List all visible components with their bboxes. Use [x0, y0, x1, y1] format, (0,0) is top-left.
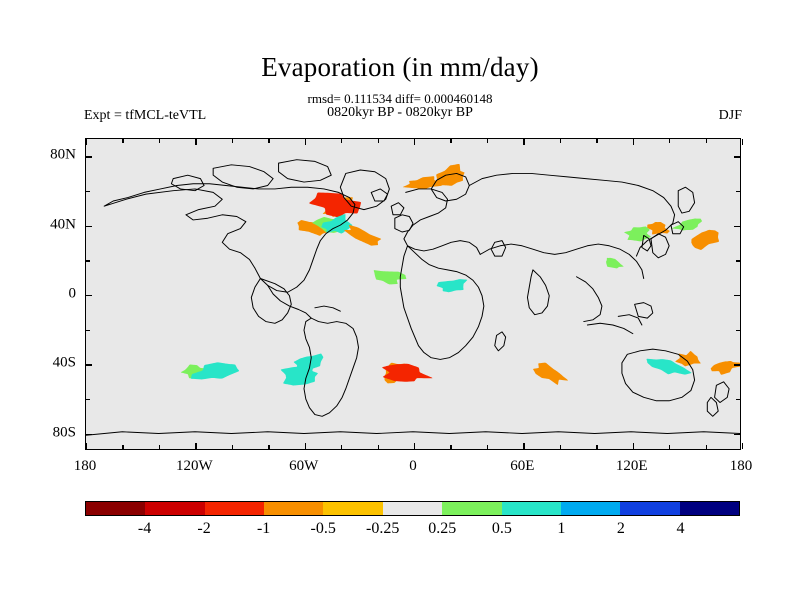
- axis-tick: [122, 139, 123, 143]
- axis-tick: [305, 443, 306, 449]
- coastline-layer: [86, 160, 740, 436]
- axis-tick: [560, 139, 561, 143]
- axis-tick: [86, 156, 92, 157]
- colorbar[interactable]: [85, 501, 740, 516]
- axis-tick: [159, 445, 160, 449]
- colorbar-segment-5: [383, 502, 442, 515]
- axis-tick: [734, 226, 740, 227]
- axis-tick: [523, 139, 524, 145]
- y-axis-tick-label: 0: [30, 286, 76, 303]
- world-map-svg: [86, 139, 740, 449]
- axis-tick: [742, 139, 743, 145]
- anomaly-region: [675, 351, 700, 366]
- axis-tick: [86, 443, 87, 449]
- axis-tick: [232, 139, 233, 143]
- axis-tick: [341, 139, 342, 143]
- x-axis-tick-label: 180: [730, 458, 753, 475]
- axis-tick: [523, 443, 524, 449]
- colorbar-segment-1: [145, 502, 204, 515]
- x-axis-tick-label: 60E: [510, 458, 534, 475]
- axis-tick: [414, 139, 415, 145]
- axis-tick: [122, 445, 123, 449]
- anomaly-region: [691, 230, 719, 250]
- axis-tick: [450, 445, 451, 449]
- anomaly-region: [711, 361, 740, 375]
- axis-tick: [195, 139, 196, 145]
- axis-tick: [734, 364, 740, 365]
- axis-tick: [159, 139, 160, 143]
- colorbar-tick-label: -2: [197, 520, 210, 538]
- x-axis-tick-label: 0: [409, 458, 417, 475]
- axis-tick: [633, 443, 634, 449]
- axis-tick: [414, 443, 415, 449]
- axis-tick: [378, 445, 379, 449]
- y-axis-tick-label: 80S: [30, 424, 76, 441]
- axis-tick: [736, 191, 740, 192]
- colorbar-segment-9: [620, 502, 679, 515]
- axis-tick: [86, 226, 92, 227]
- colorbar-segment-0: [86, 502, 145, 515]
- anomaly-region: [344, 225, 381, 246]
- colorbar-segment-7: [502, 502, 561, 515]
- axis-tick: [450, 139, 451, 143]
- axis-tick: [669, 445, 670, 449]
- colorbar-segment-2: [205, 502, 264, 515]
- x-axis-tick-label: 120E: [616, 458, 648, 475]
- colorbar-tick-label: 4: [676, 520, 684, 538]
- axis-tick: [86, 434, 92, 435]
- axis-tick: [669, 139, 670, 143]
- axis-tick: [734, 156, 740, 157]
- experiment-label: Expt = tfMCL-teVTL: [84, 108, 206, 124]
- anomaly-region: [437, 279, 468, 292]
- axis-tick: [596, 445, 597, 449]
- axis-tick: [742, 443, 743, 449]
- axis-tick: [378, 139, 379, 143]
- colorbar-tick-label: -0.25: [366, 520, 399, 538]
- axis-tick: [736, 399, 740, 400]
- axis-tick: [232, 445, 233, 449]
- axis-tick: [633, 139, 634, 145]
- anomaly-region: [647, 222, 670, 234]
- axis-tick: [736, 330, 740, 331]
- season-label: DJF: [719, 108, 742, 124]
- colorbar-segment-10: [680, 502, 739, 515]
- map-clip: [86, 139, 740, 449]
- colorbar-tick-label: -4: [138, 520, 151, 538]
- axis-tick: [341, 445, 342, 449]
- axis-tick: [86, 260, 90, 261]
- axis-tick: [734, 295, 740, 296]
- axis-tick: [487, 139, 488, 143]
- anomaly-region: [533, 363, 568, 385]
- axis-tick: [734, 434, 740, 435]
- x-axis-tick-label: 60W: [289, 458, 318, 475]
- axis-tick: [268, 139, 269, 143]
- axis-tick: [86, 295, 92, 296]
- colorbar-segment-8: [561, 502, 620, 515]
- axis-tick: [268, 445, 269, 449]
- anomaly-region: [382, 364, 432, 382]
- colorbar-tick-label: 2: [617, 520, 625, 538]
- axis-tick: [706, 139, 707, 143]
- colorbar-tick-label: 1: [557, 520, 565, 538]
- colorbar-tick-label: -0.5: [311, 520, 336, 538]
- page-title: Evaporation (in mm/day): [0, 52, 800, 83]
- axis-tick: [86, 330, 90, 331]
- axis-tick: [86, 191, 90, 192]
- anomaly-region: [672, 218, 702, 230]
- colorbar-tick-label: 0.25: [428, 520, 456, 538]
- axis-tick: [736, 260, 740, 261]
- axis-tick: [86, 364, 92, 365]
- axis-tick: [195, 443, 196, 449]
- axis-tick: [305, 139, 306, 145]
- x-axis-tick-label: 120W: [176, 458, 213, 475]
- colorbar-tick-label: -1: [257, 520, 270, 538]
- axis-tick: [86, 139, 87, 145]
- x-axis-tick-label: 180: [74, 458, 97, 475]
- colorbar-segment-3: [264, 502, 323, 515]
- axis-tick: [86, 399, 90, 400]
- y-axis-tick-label: 40N: [30, 216, 76, 233]
- anomaly-region: [309, 192, 361, 217]
- anomaly-region: [624, 227, 651, 242]
- y-axis-tick-label: 80N: [30, 147, 76, 164]
- colorbar-segment-6: [442, 502, 501, 515]
- colorbar-tick-label: 0.5: [492, 520, 512, 538]
- axis-tick: [487, 445, 488, 449]
- axis-tick: [560, 445, 561, 449]
- anomaly-region: [606, 258, 624, 269]
- axis-tick: [596, 139, 597, 143]
- colorbar-segment-4: [323, 502, 382, 515]
- axis-tick: [706, 445, 707, 449]
- figure-canvas: Evaporation (in mm/day) rmsd= 0.111534 d…: [0, 0, 800, 600]
- map-plot-area: [85, 138, 741, 450]
- y-axis-tick-label: 40S: [30, 355, 76, 372]
